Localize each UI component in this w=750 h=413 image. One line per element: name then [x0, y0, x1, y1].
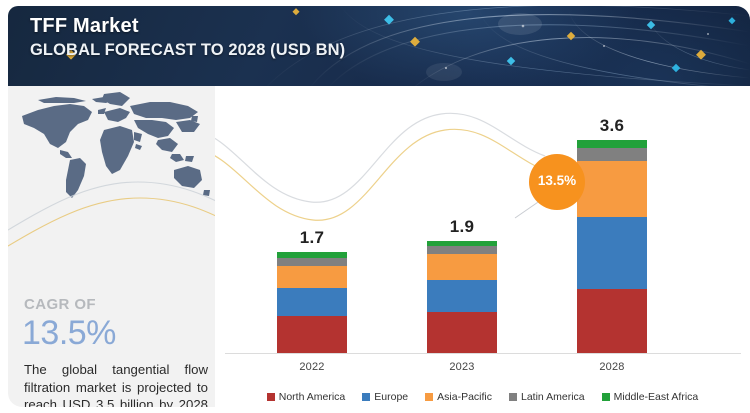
legend-item-north-america[interactable]: North America [267, 391, 346, 403]
sidebar-swoosh-decoration [8, 86, 215, 407]
bar-segment-latin-america[interactable] [577, 148, 647, 161]
sidebar-panel: CAGR OF 13.5% The global tangential flow… [8, 86, 215, 407]
x-axis-label-2022: 2022 [277, 361, 347, 373]
bar-segment-middle-east-africa[interactable] [577, 140, 647, 148]
bar-segment-asia-pacific[interactable] [577, 161, 647, 217]
x-axis-label-2028: 2028 [577, 361, 647, 373]
header-banner: TFF Market GLOBAL FORECAST TO 2028 (USD … [8, 6, 750, 86]
legend-label: Latin America [521, 391, 585, 403]
cagr-label: CAGR OF [24, 296, 96, 313]
cagr-callout-value: 13.5% [529, 173, 585, 188]
legend-swatch-icon [267, 393, 275, 401]
legend-label: North America [279, 391, 346, 403]
stacked-bar-chart: 1.7 1.9 3.6 2022 2023 2028 13.5% North A… [215, 86, 750, 407]
bar-segment-latin-america[interactable] [277, 258, 347, 266]
cagr-callout-badge[interactable]: 13.5% [529, 154, 585, 210]
legend-label: Middle-East Africa [614, 391, 699, 403]
bar-segment-latin-america[interactable] [427, 246, 497, 254]
page-subtitle: GLOBAL FORECAST TO 2028 (USD BN) [30, 41, 345, 60]
legend-item-asia-pacific[interactable]: Asia-Pacific [425, 391, 492, 403]
sidebar-description: The global tangential flow filtration ma… [24, 361, 208, 407]
legend-swatch-icon [509, 393, 517, 401]
value-label-2022: 1.7 [277, 228, 347, 248]
value-label-2028: 3.6 [577, 116, 647, 136]
infographic-card: TFF Market GLOBAL FORECAST TO 2028 (USD … [0, 0, 750, 413]
value-label-2023: 1.9 [427, 217, 497, 237]
legend-item-europe[interactable]: Europe [362, 391, 408, 403]
bar-segment-north-america[interactable] [277, 316, 347, 353]
chart-legend: North AmericaEuropeAsia-PacificLatin Ame… [215, 391, 750, 403]
legend-swatch-icon [362, 393, 370, 401]
legend-swatch-icon [425, 393, 433, 401]
bar-segment-europe[interactable] [577, 217, 647, 289]
bar-2028[interactable] [577, 140, 647, 353]
cagr-value: 13.5% [22, 314, 116, 353]
x-axis-label-2023: 2023 [427, 361, 497, 373]
legend-item-middle-east-africa[interactable]: Middle-East Africa [602, 391, 699, 403]
bar-segment-north-america[interactable] [427, 312, 497, 353]
legend-item-latin-america[interactable]: Latin America [509, 391, 585, 403]
bar-2022[interactable] [277, 252, 347, 353]
bar-segment-asia-pacific[interactable] [427, 254, 497, 280]
bar-segment-europe[interactable] [277, 288, 347, 316]
bar-2023[interactable] [427, 241, 497, 353]
bar-segment-europe[interactable] [427, 280, 497, 311]
bar-segment-north-america[interactable] [577, 289, 647, 353]
page-title: TFF Market [30, 15, 139, 38]
legend-label: Asia-Pacific [437, 391, 492, 403]
legend-swatch-icon [602, 393, 610, 401]
legend-label: Europe [374, 391, 408, 403]
bar-segment-asia-pacific[interactable] [277, 266, 347, 288]
